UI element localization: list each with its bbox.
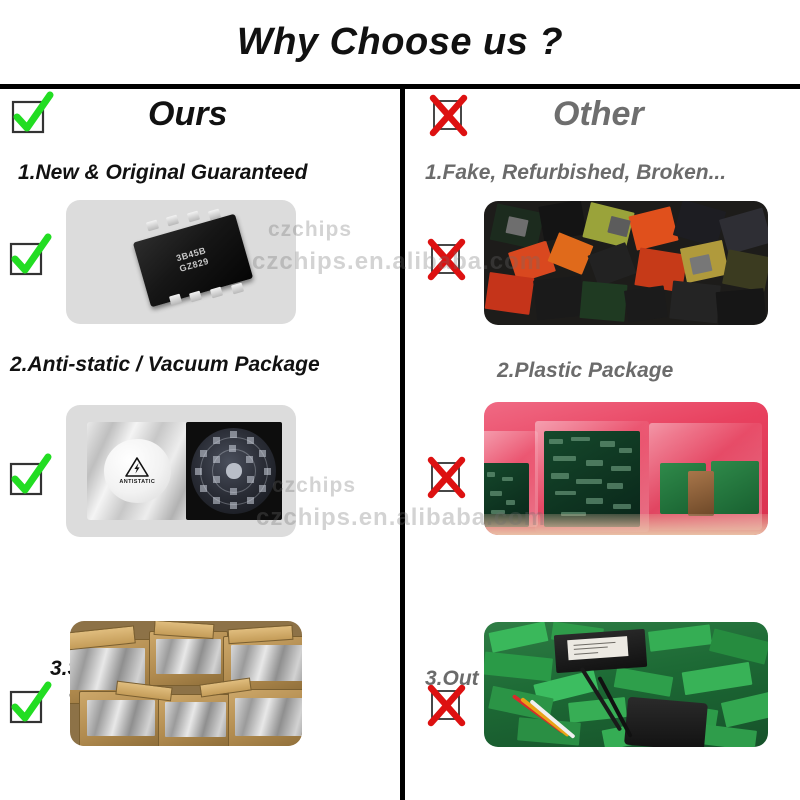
plastic-bag-pcb-photo <box>484 402 768 535</box>
black-module <box>554 629 647 673</box>
chip-product-photo: 3B45B GZ829 <box>66 200 296 324</box>
esd-warning-icon <box>124 456 150 478</box>
ours-column: Ours 1.New & Original Guaranteed 3B45B G… <box>0 89 400 800</box>
page-title: Why Choose us ? <box>237 21 563 64</box>
other-row-2-title: 2.Plastic Package <box>497 359 673 383</box>
check-icon <box>6 235 50 279</box>
scrap-green-boards-photo <box>484 622 768 747</box>
cross-icon <box>427 93 471 137</box>
ours-label: Ours <box>148 95 227 134</box>
scrap-cpu-heap-photo <box>484 201 768 325</box>
check-icon <box>6 683 50 727</box>
antistatic-bag: ANTISTATIC <box>87 422 188 520</box>
banner-title-bar: Why Choose us ? <box>0 0 800 84</box>
other-label: Other <box>553 95 644 134</box>
antistatic-package-photo: ANTISTATIC <box>66 405 296 537</box>
check-icon <box>8 93 52 137</box>
ours-row-1-title: 1.New & Original Guaranteed <box>18 161 307 185</box>
cross-icon <box>425 455 469 499</box>
component-reel-tray <box>186 422 283 520</box>
other-column-header: Other <box>405 89 800 151</box>
why-choose-us-banner: Why Choose us ? Ours 1.New & Original Gu… <box>0 0 800 800</box>
other-row-1-title: 1.Fake, Refurbished, Broken... <box>425 161 726 185</box>
check-icon <box>6 455 50 499</box>
ours-column-header: Ours <box>0 89 400 151</box>
antistatic-text: ANTISTATIC <box>119 479 155 485</box>
other-column: Other 1.Fake, Refurbished, Broken... <box>405 89 800 800</box>
ours-row-2-title: 2.Anti-static / Vacuum Package <box>10 353 320 377</box>
shipping-boxes-photo <box>70 621 302 746</box>
antistatic-label-disc: ANTISTATIC <box>104 439 171 503</box>
cross-icon <box>425 683 469 727</box>
cross-icon <box>425 237 469 281</box>
